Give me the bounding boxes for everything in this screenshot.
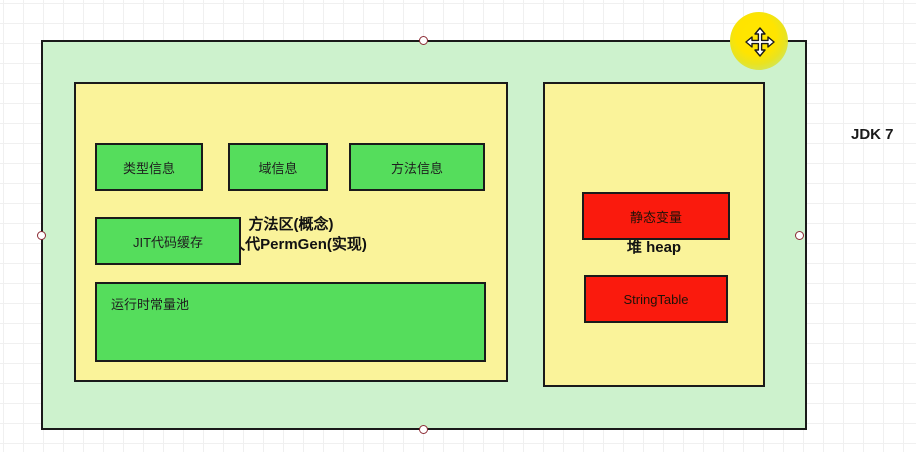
string-table-label: StringTable	[623, 292, 688, 307]
runtime-constant-pool-label: 运行时常量池	[111, 294, 189, 313]
static-variables-box[interactable]: 静态变量	[582, 192, 730, 240]
jit-code-cache-box[interactable]: JIT代码缓存	[95, 217, 241, 265]
resize-handle-left[interactable]	[37, 231, 46, 240]
diagram-canvas[interactable]: 方法区(概念) 永久代PermGen(实现) 类型信息 域信息 方法信息 JIT…	[0, 0, 916, 452]
type-info-box[interactable]: 类型信息	[95, 143, 203, 191]
runtime-constant-pool-box[interactable]: 运行时常量池	[95, 282, 486, 362]
static-variables-label: 静态变量	[630, 207, 682, 226]
method-info-label: 方法信息	[391, 158, 443, 177]
method-info-box[interactable]: 方法信息	[349, 143, 485, 191]
string-table-box[interactable]: StringTable	[584, 275, 728, 323]
resize-handle-bottom[interactable]	[419, 425, 428, 434]
jdk-version-label[interactable]: JDK 7	[851, 126, 894, 143]
resize-handle-top[interactable]	[419, 36, 428, 45]
field-info-box[interactable]: 域信息	[228, 143, 328, 191]
jit-code-cache-label: JIT代码缓存	[133, 232, 203, 251]
resize-handle-right[interactable]	[795, 231, 804, 240]
field-info-label: 域信息	[258, 158, 297, 177]
type-info-label: 类型信息	[123, 158, 175, 177]
